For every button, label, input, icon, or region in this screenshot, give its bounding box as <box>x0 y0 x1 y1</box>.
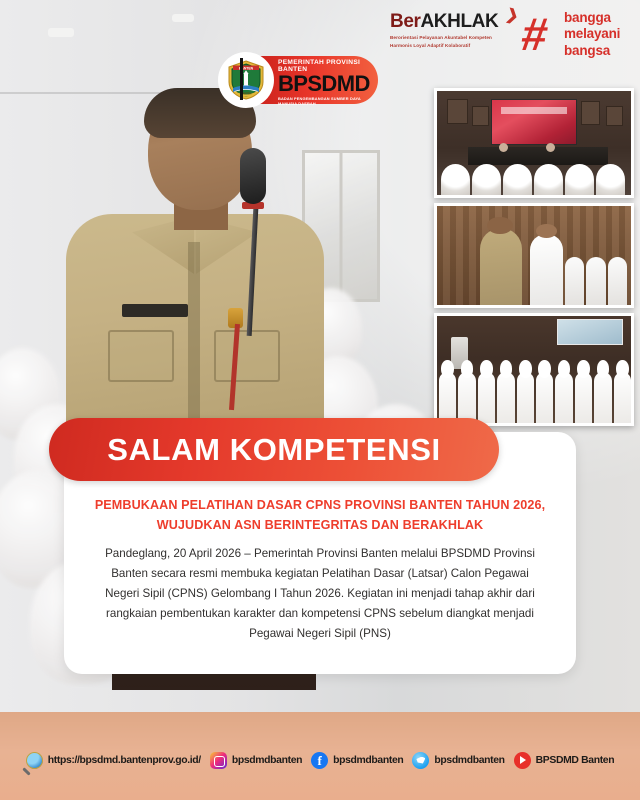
audience-member <box>565 164 594 195</box>
seated-cpns <box>439 372 456 423</box>
bangga-line2: melayani <box>564 26 620 42</box>
cadet-figure <box>530 234 563 305</box>
facebook-icon: f <box>311 752 328 769</box>
bpsdmd-expansion: BADAN PENGEMBANGAN SUMBER DAYA MANUSIA D… <box>278 96 378 106</box>
youtube-channel: BPSDMD Banten <box>536 755 615 766</box>
twitter-icon <box>412 752 429 769</box>
cadet-head <box>536 224 557 238</box>
photo2-scene <box>437 206 631 305</box>
uniform-pocket <box>108 330 174 382</box>
ceiling-light <box>172 14 194 22</box>
footer-item-twitter[interactable]: bpsdmdbanten <box>412 752 504 769</box>
audience-member <box>441 164 470 195</box>
content-card: SALAM KOMPETENSI PEMBUKAAN PELATIHAN DAS… <box>64 432 576 674</box>
youtube-icon <box>514 752 531 769</box>
uniform-pocket <box>214 330 280 382</box>
bpsdmd-acronym: BPSDMD <box>278 73 378 95</box>
poster-canvas: BerAKHLAK ❯ Berorientasi Pelayanan Akunt… <box>0 0 640 800</box>
microphone-icon <box>240 148 266 204</box>
wall-portrait <box>581 101 600 125</box>
name-tag <box>122 304 188 317</box>
body-paragraph: Pandeglang, 20 April 2026 – Pemerintah P… <box>94 544 546 644</box>
bangga-melayani-logo: # bangga melayani bangsa <box>522 8 626 62</box>
bangga-words: bangga melayani bangsa <box>564 10 620 59</box>
salam-kompetensi-banner: SALAM KOMPETENSI <box>49 418 499 481</box>
berakhlak-prefix: Ber <box>390 11 420 32</box>
seated-cpns <box>614 372 631 423</box>
instagram-handle: bpsdmdbanten <box>232 755 302 766</box>
photo1-scene <box>437 91 631 195</box>
twitter-handle: bpsdmdbanten <box>434 755 504 766</box>
website-url: https://bpsdmd.bantenprov.go.id/ <box>48 755 201 766</box>
cadet-row <box>608 257 627 305</box>
footer-social-bar: https://bpsdmd.bantenprov.go.id/ bpsdmdb… <box>0 712 640 800</box>
audience-member <box>534 164 563 195</box>
berakhlak-tagline-line1: Berorientasi Pelayanan Akuntabel Kompete… <box>390 34 514 42</box>
seated-cpns <box>517 372 534 423</box>
photo3-scene <box>437 316 631 423</box>
audience-member <box>472 164 501 195</box>
logo-divider <box>240 58 243 100</box>
banner-title: SALAM KOMPETENSI <box>107 432 440 468</box>
ceiling-light <box>48 28 74 37</box>
seated-cpns <box>536 372 553 423</box>
bpsdmd-logo: PEMERINTAH PROVINSI BANTEN BPSDMD BADAN … <box>218 52 378 108</box>
facebook-handle: bpsdmdbanten <box>333 755 403 766</box>
banten-emblem-icon: BANTEN BANTEN <box>218 52 274 108</box>
berakhlak-suffix: AKHLAK <box>420 11 498 32</box>
berakhlak-wordmark: BerAKHLAK ❯ Berorientasi Pelayanan Akunt… <box>390 12 514 49</box>
panelist <box>499 143 508 152</box>
projector-screen <box>491 99 576 145</box>
footer-item-website[interactable]: https://bpsdmd.bantenprov.go.id/ <box>26 752 201 769</box>
seated-cpns <box>458 372 475 423</box>
wall-portrait <box>606 106 623 127</box>
cadet-row <box>586 257 605 305</box>
seated-cpns <box>575 372 592 423</box>
officer-head <box>487 217 512 234</box>
headline-text: PEMBUKAAN PELATIHAN DASAR CPNS PROVINSI … <box>90 496 550 535</box>
officer-figure <box>480 228 523 305</box>
bangga-line3: bangsa <box>564 43 620 59</box>
berakhlak-logo: BerAKHLAK ❯ Berorientasi Pelayanan Akunt… <box>390 8 626 62</box>
wall-portrait <box>447 99 468 124</box>
berakhlak-tagline-line2: Harmonis Loyal Adaptif Kolaboratif <box>390 42 514 50</box>
berakhlak-word: BerAKHLAK ❯ <box>390 12 514 31</box>
seated-cpns <box>478 372 495 423</box>
panelist <box>546 143 555 152</box>
photo-cpns-audience <box>434 313 634 426</box>
audience-member <box>596 164 625 195</box>
wall-portrait <box>472 106 489 127</box>
hashtag-icon: # <box>519 12 565 56</box>
seated-cpns <box>594 372 611 423</box>
seated-cpns <box>555 372 572 423</box>
footer-item-youtube[interactable]: BPSDMD Banten <box>514 752 615 769</box>
head-table <box>468 147 608 165</box>
instagram-icon <box>210 752 227 769</box>
cadet-row <box>565 257 584 305</box>
uniform-placket <box>188 242 200 442</box>
footer-item-facebook[interactable]: f bpsdmdbanten <box>311 752 403 769</box>
berakhlak-tagline: Berorientasi Pelayanan Akuntabel Kompete… <box>390 34 514 49</box>
photo-collage <box>434 88 634 426</box>
photo-pinning-ceremony <box>434 203 634 308</box>
photo-hall-opening-ceremony <box>434 88 634 198</box>
audience-member <box>503 164 532 195</box>
footer-item-instagram[interactable]: bpsdmdbanten <box>210 752 302 769</box>
chevron-right-icon: ❯ <box>504 7 519 24</box>
globe-icon <box>26 752 43 769</box>
bangga-line1: bangga <box>564 10 620 26</box>
seated-cpns <box>497 372 514 423</box>
projection-screen <box>557 319 623 345</box>
